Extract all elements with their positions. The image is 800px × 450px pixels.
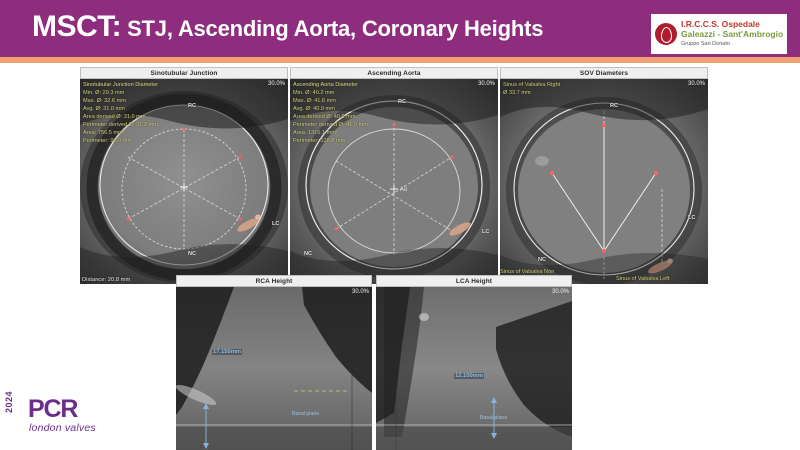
measurement-perimeter: Perimeter: 128.8 mm xyxy=(293,138,368,146)
panel-sinotubular-junction: Sinotubular Junction xyxy=(80,67,288,284)
header-inner: MSCT: STJ, Ascending Aorta, Coronary Hei… xyxy=(0,5,800,55)
slide-header: MSCT: STJ, Ascending Aorta, Coronary Hei… xyxy=(0,0,800,57)
lca-height-ct-rendering xyxy=(376,287,572,450)
zoom-level-stj: 30.0% xyxy=(268,81,285,87)
annotation-sinus-left: Sinus of Valsalva Left Ø 35.8 mm xyxy=(616,276,669,284)
zoom-level-lca-height: 30.0% xyxy=(552,289,569,295)
panel-title-ascending-aorta: Ascending Aorta xyxy=(290,67,498,79)
ct-image-lca-height[interactable]: 30.0% 12.100mm Basal plane xyxy=(376,287,572,450)
cusp-label-rc-sov: RC xyxy=(610,103,618,109)
annotation-sinus-left-name: Sinus of Valsalva Left xyxy=(616,276,669,284)
measurement-perimeter-derived-diameter: Perimeter derived Ø: 41.0 mm xyxy=(293,122,368,130)
cusp-label-nc-aa: NC xyxy=(304,251,312,257)
measurement-max-diameter: Max. Ø: 41.6 mm xyxy=(293,98,368,106)
measurements-stj: Sinotubular Junction Diameter Min. Ø: 29… xyxy=(83,82,158,146)
hospital-name-line2: Galeazzi - Sant'Ambrogio xyxy=(681,30,783,40)
measurements-ascending-aorta: Ascending Aorta Diameter Min. Ø: 40.2 mm… xyxy=(293,82,368,146)
pcr-london-valves-logo: 2024 PCR london valves xyxy=(14,397,110,437)
lca-height-measurement-label: 12.100mm xyxy=(454,373,484,379)
measurement-area: Area: 1316.1 mm² xyxy=(293,130,368,138)
panel-title-rca-height: RCA Height xyxy=(176,275,372,287)
cusp-label-nc-sov: NC xyxy=(538,257,546,263)
measurement-min-diameter: Min. Ø: 40.2 mm xyxy=(293,90,368,98)
measurement-avg-diameter: Avg. Ø: 31.0 mm xyxy=(83,106,158,114)
hospital-logo: I.R.C.C.S. Ospedale Galeazzi - Sant'Ambr… xyxy=(651,14,787,54)
measurement-heading-stj: Sinotubular Junction Diameter xyxy=(83,82,158,90)
cusp-label-rc-aa: RC xyxy=(398,99,406,105)
title-prefix: MSCT: xyxy=(32,10,121,43)
ct-image-ascending-aorta[interactable]: Ao 30.0% Ascending Aorta Diameter Min. Ø… xyxy=(290,79,498,284)
measurement-max-diameter: Max. Ø: 32.6 mm xyxy=(83,98,158,106)
svg-text:Ao: Ao xyxy=(400,187,408,193)
page-title: MSCT: STJ, Ascending Aorta, Coronary Hei… xyxy=(32,12,543,42)
zoom-level-rca-height: 30.0% xyxy=(352,289,369,295)
ct-image-sov[interactable]: 30.0% Sinus of Valsalva Right Ø 33.7 mm … xyxy=(500,79,708,284)
panel-title-lca-height: LCA Height xyxy=(376,275,572,287)
cusp-label-lc-sov: LC xyxy=(688,215,695,221)
cusp-label-lc-stj: LC xyxy=(272,221,279,227)
sov-ct-rendering xyxy=(500,79,708,284)
flame-icon xyxy=(655,23,677,45)
annotation-sinus-right-name: Sinus of Valsalva Right xyxy=(503,82,560,90)
measurement-min-diameter: Min. Ø: 29.3 mm xyxy=(83,90,158,98)
cusp-label-nc-stj: NC xyxy=(188,251,196,257)
panel-title-sov: SOV Diameters xyxy=(500,67,708,79)
pcr-wordmark: PCR xyxy=(28,397,77,422)
pcr-year: 2024 xyxy=(4,391,14,413)
measurement-perimeter: Perimeter: 98.0 mm xyxy=(83,138,158,146)
title-subject: STJ, Ascending Aorta, Coronary Heights xyxy=(121,16,543,41)
hospital-logo-text: I.R.C.C.S. Ospedale Galeazzi - Sant'Ambr… xyxy=(681,20,783,47)
distance-readout-stj: Distance: 20.8 mm xyxy=(82,277,130,283)
measurement-perimeter-derived-diameter: Perimeter derived Ø: 31.2 mm xyxy=(83,122,158,130)
panel-rca-height: RCA Height 30.0% 17.150mm Basal p xyxy=(176,275,372,450)
measurement-heading-ascending-aorta: Ascending Aorta Diameter xyxy=(293,82,368,90)
cusp-label-lc-aa: LC xyxy=(482,229,489,235)
annotation-sinus-right-value: Ø 33.7 mm xyxy=(503,90,560,98)
lca-basal-plane-label: Basal plane xyxy=(480,415,507,421)
measurement-area-derived-diameter: Area derived Ø: 40.9 mm xyxy=(293,114,368,122)
rca-basal-plane-label: Basal plane xyxy=(292,411,319,417)
ct-image-stj[interactable]: 30.0% Sinotubular Junction Diameter Min.… xyxy=(80,79,288,284)
measurement-area: Area: 756.5 mm² xyxy=(83,130,158,138)
panel-sov-diameters: SOV Diameters xyxy=(500,67,708,284)
zoom-level-ascending-aorta: 30.0% xyxy=(478,81,495,87)
pcr-tagline: london valves xyxy=(29,422,96,434)
measurement-avg-diameter: Avg. Ø: 40.9 mm xyxy=(293,106,368,114)
rca-height-measurement-label: 17.150mm xyxy=(212,349,242,355)
rca-height-ct-rendering xyxy=(176,287,372,450)
hospital-group-line: Gruppo San Donato xyxy=(681,41,783,47)
panel-title-stj: Sinotubular Junction xyxy=(80,67,288,79)
zoom-level-sov: 30.0% xyxy=(688,81,705,87)
cusp-label-rc-stj: RC xyxy=(188,103,196,109)
panel-ascending-aorta: Ascending Aorta Ao xyxy=(290,67,498,284)
accent-bar xyxy=(0,57,800,63)
panel-lca-height: LCA Height 30.0% 12.100mm Basal p xyxy=(376,275,572,450)
measurement-area-derived-diameter: Area derived Ø: 31.0 mm xyxy=(83,114,158,122)
ct-image-rca-height[interactable]: 30.0% 17.150mm Basal plane xyxy=(176,287,372,450)
annotation-sinus-right: Sinus of Valsalva Right Ø 33.7 mm xyxy=(503,82,560,97)
